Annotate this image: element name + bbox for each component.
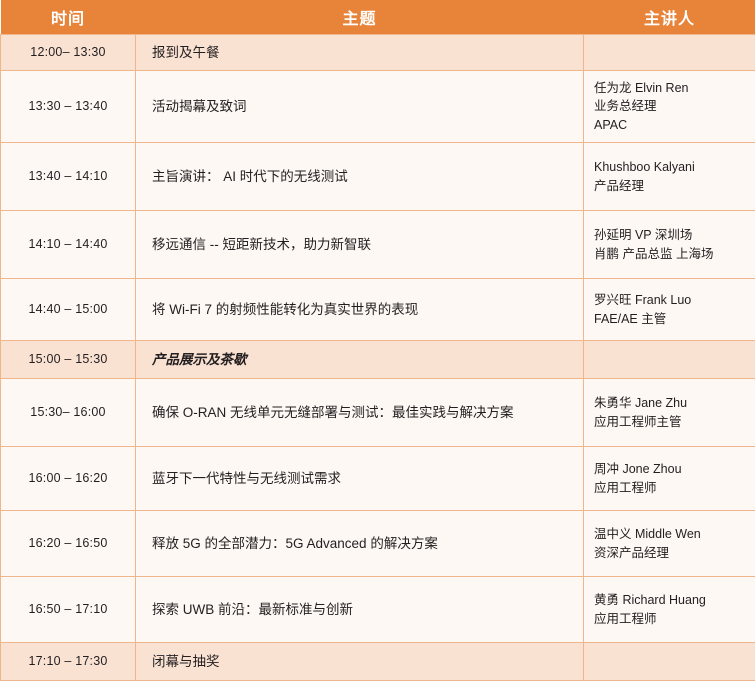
table-row: 17:10 – 17:30闭幕与抽奖 — [1, 643, 755, 681]
cell-topic: 蓝牙下一代特性与无线测试需求 — [136, 447, 584, 511]
cell-topic: 释放 5G 的全部潜力：5G Advanced 的解决方案 — [136, 511, 584, 577]
speaker-line: 应用工程师主管 — [594, 413, 751, 431]
cell-time: 16:20 – 16:50 — [1, 511, 136, 577]
table-row: 12:00– 13:30报到及午餐 — [1, 35, 755, 71]
cell-topic: 确保 O-RAN 无线单元无缝部署与测试：最佳实践与解决方案 — [136, 379, 584, 447]
cell-topic: 将 Wi-Fi 7 的射频性能转化为真实世界的表现 — [136, 279, 584, 341]
cell-time: 13:30 – 13:40 — [1, 71, 136, 143]
speaker-line: APAC — [594, 116, 751, 134]
speaker-line: 朱勇华 Jane Zhu — [594, 394, 751, 412]
table-row: 16:50 – 17:10探索 UWB 前沿：最新标准与创新黄勇 Richard… — [1, 577, 755, 643]
speaker-line: 任为龙 Elvin Ren — [594, 79, 751, 97]
table-row: 14:10 – 14:40移远通信 -- 短距新技术，助力新智联孙延明 VP 深… — [1, 211, 755, 279]
column-header-time: 时间 — [1, 0, 136, 35]
topic-text: 移远通信 -- 短距新技术，助力新智联 — [152, 235, 583, 255]
topic-text: 探索 UWB 前沿：最新标准与创新 — [152, 600, 583, 620]
cell-speaker: 黄勇 Richard Huang应用工程师 — [584, 577, 755, 643]
speaker-line: 黄勇 Richard Huang — [594, 591, 751, 609]
speaker-line: 周冲 Jone Zhou — [594, 460, 751, 478]
table-body: 12:00– 13:30报到及午餐13:30 – 13:40活动揭幕及致词任为龙… — [1, 35, 755, 681]
topic-text: 将 Wi-Fi 7 的射频性能转化为真实世界的表现 — [152, 300, 583, 320]
table-row: 16:20 – 16:50释放 5G 的全部潜力：5G Advanced 的解决… — [1, 511, 755, 577]
speaker-line: FAE/AE 主管 — [594, 310, 751, 328]
table-row: 15:30– 16:00确保 O-RAN 无线单元无缝部署与测试：最佳实践与解决… — [1, 379, 755, 447]
cell-speaker — [584, 341, 755, 379]
topic-text: 活动揭幕及致词 — [152, 97, 583, 117]
speaker-line: 肖鹏 产品总监 上海场 — [594, 245, 751, 263]
speaker-line: 孙延明 VP 深圳场 — [594, 226, 751, 244]
speaker-line: 业务总经理 — [594, 97, 751, 115]
cell-topic: 主旨演讲： AI 时代下的无线测试 — [136, 143, 584, 211]
speaker-line: Khushboo Kalyani — [594, 158, 751, 176]
topic-text: 释放 5G 的全部潜力：5G Advanced 的解决方案 — [152, 534, 583, 554]
cell-speaker — [584, 643, 755, 681]
table-row: 13:40 – 14:10主旨演讲： AI 时代下的无线测试Khushboo K… — [1, 143, 755, 211]
topic-text: 主旨演讲： AI 时代下的无线测试 — [152, 167, 583, 187]
cell-speaker: 朱勇华 Jane Zhu应用工程师主管 — [584, 379, 755, 447]
topic-text: 闭幕与抽奖 — [152, 652, 583, 672]
speaker-line: 资深产品经理 — [594, 544, 751, 562]
cell-speaker — [584, 35, 755, 71]
agenda-schedule-table: 时间 主题 主讲人 12:00– 13:30报到及午餐13:30 – 13:40… — [0, 0, 755, 681]
header-row: 时间 主题 主讲人 — [1, 0, 755, 35]
cell-time: 15:00 – 15:30 — [1, 341, 136, 379]
cell-topic: 移远通信 -- 短距新技术，助力新智联 — [136, 211, 584, 279]
topic-text: 确保 O-RAN 无线单元无缝部署与测试：最佳实践与解决方案 — [152, 403, 583, 423]
cell-time: 16:50 – 17:10 — [1, 577, 136, 643]
speaker-line: 应用工程师 — [594, 610, 751, 628]
cell-speaker: 孙延明 VP 深圳场肖鹏 产品总监 上海场 — [584, 211, 755, 279]
table-row: 16:00 – 16:20蓝牙下一代特性与无线测试需求周冲 Jone Zhou应… — [1, 447, 755, 511]
speaker-line: 应用工程师 — [594, 479, 751, 497]
cell-speaker: 周冲 Jone Zhou应用工程师 — [584, 447, 755, 511]
cell-time: 13:40 – 14:10 — [1, 143, 136, 211]
cell-speaker: 温中义 Middle Wen资深产品经理 — [584, 511, 755, 577]
cell-topic: 产品展示及茶歇 — [136, 341, 584, 379]
cell-topic: 报到及午餐 — [136, 35, 584, 71]
cell-topic: 闭幕与抽奖 — [136, 643, 584, 681]
cell-topic: 活动揭幕及致词 — [136, 71, 584, 143]
cell-speaker: 罗兴旺 Frank LuoFAE/AE 主管 — [584, 279, 755, 341]
table-row: 15:00 – 15:30产品展示及茶歇 — [1, 341, 755, 379]
cell-time: 14:10 – 14:40 — [1, 211, 136, 279]
cell-time: 12:00– 13:30 — [1, 35, 136, 71]
cell-topic: 探索 UWB 前沿：最新标准与创新 — [136, 577, 584, 643]
speaker-line: 罗兴旺 Frank Luo — [594, 291, 751, 309]
speaker-line: 产品经理 — [594, 177, 751, 195]
cell-speaker: 任为龙 Elvin Ren业务总经理APAC — [584, 71, 755, 143]
table-row: 13:30 – 13:40活动揭幕及致词任为龙 Elvin Ren业务总经理AP… — [1, 71, 755, 143]
cell-time: 16:00 – 16:20 — [1, 447, 136, 511]
cell-time: 14:40 – 15:00 — [1, 279, 136, 341]
table-header: 时间 主题 主讲人 — [1, 0, 755, 35]
speaker-line: 温中义 Middle Wen — [594, 525, 751, 543]
cell-time: 15:30– 16:00 — [1, 379, 136, 447]
topic-text: 报到及午餐 — [152, 43, 583, 63]
cell-speaker: Khushboo Kalyani产品经理 — [584, 143, 755, 211]
table-row: 14:40 – 15:00将 Wi-Fi 7 的射频性能转化为真实世界的表现罗兴… — [1, 279, 755, 341]
column-header-topic: 主题 — [136, 0, 584, 35]
column-header-speaker: 主讲人 — [584, 0, 755, 35]
topic-text: 产品展示及茶歇 — [152, 350, 583, 370]
topic-text: 蓝牙下一代特性与无线测试需求 — [152, 469, 583, 489]
cell-time: 17:10 – 17:30 — [1, 643, 136, 681]
